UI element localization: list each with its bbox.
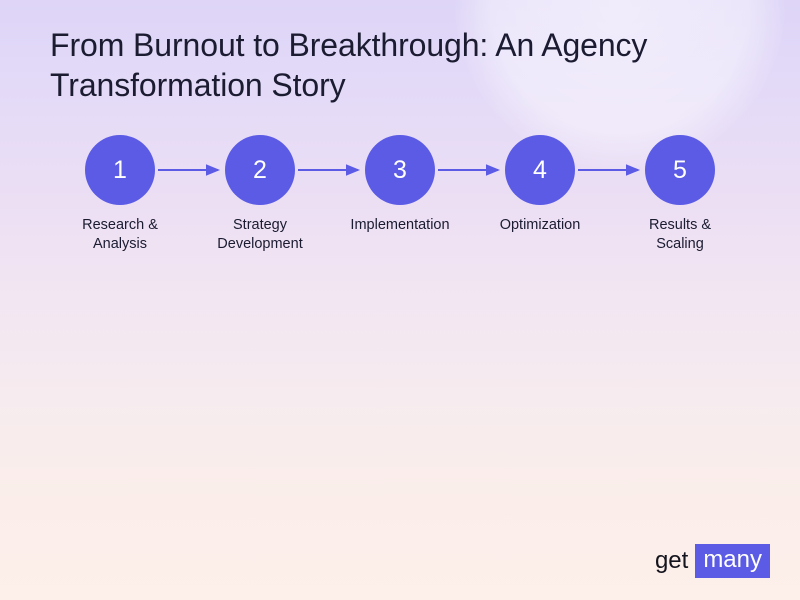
slide: From Burnout to Breakthrough: An Agency … bbox=[0, 0, 800, 600]
step-label: Implementation bbox=[330, 216, 470, 235]
step-number-badge: 2 bbox=[225, 135, 295, 205]
process-step-3[interactable]: 3 Implementation bbox=[330, 135, 470, 235]
step-label: Strategy Development bbox=[190, 216, 330, 254]
process-step-5[interactable]: 5 Results & Scaling bbox=[610, 135, 750, 254]
step-label: Research & Analysis bbox=[50, 216, 190, 254]
step-number-badge: 1 bbox=[85, 135, 155, 205]
step-number-badge: 4 bbox=[505, 135, 575, 205]
step-label: Results & Scaling bbox=[610, 216, 750, 254]
slide-title: From Burnout to Breakthrough: An Agency … bbox=[50, 25, 750, 106]
process-step-1[interactable]: 1 Research & Analysis bbox=[50, 135, 190, 254]
step-number-badge: 3 bbox=[365, 135, 435, 205]
process-flow-diagram: 1 Research & Analysis 2 Strategy Develop… bbox=[0, 135, 800, 275]
step-number-badge: 5 bbox=[645, 135, 715, 205]
process-step-4[interactable]: 4 Optimization bbox=[470, 135, 610, 235]
logo-word-many: many bbox=[695, 544, 770, 578]
process-step-2[interactable]: 2 Strategy Development bbox=[190, 135, 330, 254]
step-label: Optimization bbox=[470, 216, 610, 235]
logo-word-get: get bbox=[655, 549, 695, 573]
getmany-logo: get many bbox=[655, 544, 770, 578]
